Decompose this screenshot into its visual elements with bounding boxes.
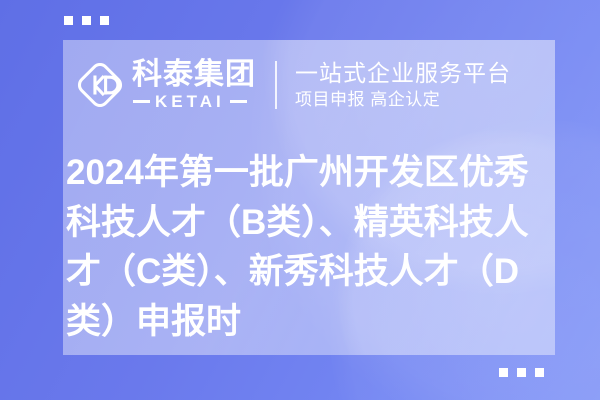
decorative-dots-top-left	[64, 16, 109, 25]
decorative-dot	[82, 16, 91, 25]
banner-image: 科泰集团 KETAI 一站式企业服务平台 项目申报 高企认定 2024年第一批广…	[0, 0, 600, 400]
banner-headline: 2024年第一批广州开发区优秀科技人才（B类）、精英科技人才（C类）、新秀科技人…	[66, 148, 555, 347]
slogan-main-text: 一站式企业服务平台	[295, 59, 511, 87]
brand-name-cn: 科泰集团	[132, 60, 256, 91]
slogan-sub-text: 项目申报 高企认定	[295, 89, 511, 111]
slogan-block: 一站式企业服务平台 项目申报 高企认定	[295, 59, 511, 111]
decorative-dot	[64, 16, 73, 25]
ketai-diamond-monogram-icon	[72, 57, 128, 113]
brand-rule-right-icon	[230, 100, 247, 103]
decorative-dot	[535, 368, 544, 377]
brand-slogan-divider	[275, 61, 277, 109]
decorative-dots-bottom-right	[499, 368, 544, 377]
brand-text: 科泰集团 KETAI	[132, 60, 256, 111]
brand-name-en-row: KETAI	[132, 93, 256, 110]
decorative-dot	[517, 368, 526, 377]
brand-name-en: KETAI	[155, 93, 225, 110]
decorative-dot	[100, 16, 109, 25]
brand-rule-left-icon	[133, 100, 150, 103]
content-panel: 科泰集团 KETAI 一站式企业服务平台 项目申报 高企认定 2024年第一批广…	[63, 40, 555, 355]
brand-lockup: 科泰集团 KETAI	[72, 57, 256, 113]
banner-header: 科泰集团 KETAI 一站式企业服务平台 项目申报 高企认定	[63, 40, 555, 130]
decorative-dot	[499, 368, 508, 377]
